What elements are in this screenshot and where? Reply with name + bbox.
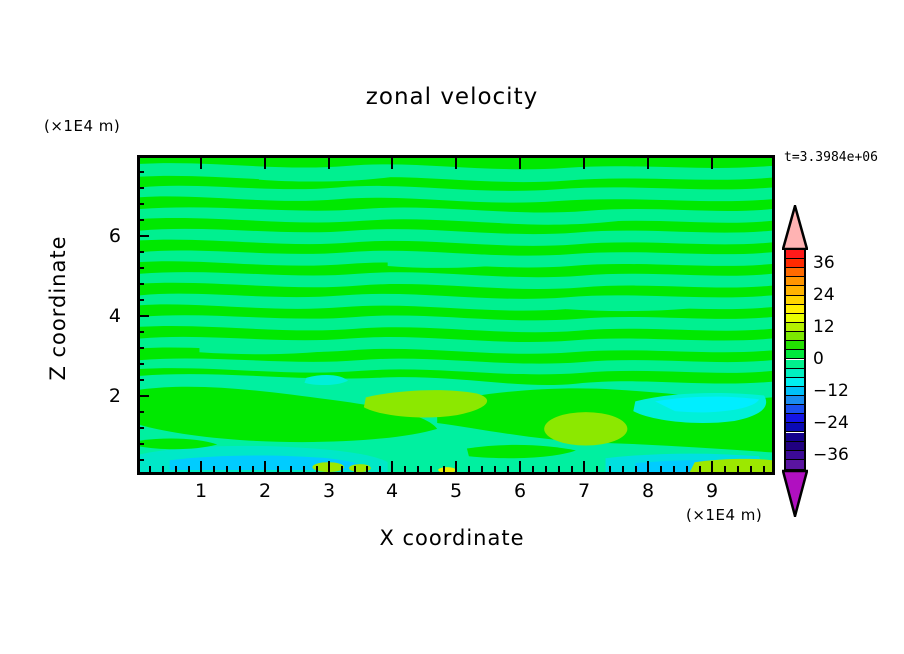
- x-tick-minor: [622, 466, 624, 472]
- colorbar-ticklabel: −12: [813, 381, 849, 401]
- y-tick-minor: [138, 219, 144, 221]
- y-ticklabel: 2: [95, 385, 121, 407]
- x-tick-major: [647, 461, 649, 472]
- y-tick-major: [138, 235, 149, 237]
- x-tick-minor: [686, 466, 688, 472]
- x-ticklabel: 1: [186, 480, 216, 502]
- x-tick-major-top: [328, 158, 330, 169]
- x-tick-major: [200, 461, 202, 472]
- x-tick-minor: [724, 466, 726, 472]
- x-ticklabel: 9: [697, 480, 727, 502]
- y-tick-minor: [138, 331, 144, 333]
- x-tick-major-top: [264, 158, 266, 169]
- page-title: zonal velocity: [0, 84, 904, 110]
- colorbar[interactable]: 36 24 12 0 −12 −24 −36: [779, 205, 811, 515]
- x-tick-minor: [468, 466, 470, 472]
- x-ticklabel: 7: [569, 480, 599, 502]
- x-tick-minor: [737, 466, 739, 472]
- x-tick-minor: [303, 466, 305, 472]
- colorbar-band: [786, 323, 804, 332]
- colorbar-band: [786, 460, 804, 469]
- colorbar-band: [786, 442, 804, 451]
- y-tick-minor: [138, 187, 144, 189]
- colorbar-band: [786, 259, 804, 268]
- colorbar-band: [786, 369, 804, 378]
- colorbar-ticklabel: −36: [813, 445, 849, 465]
- x-tick-minor: [673, 466, 675, 472]
- y-tick-minor: [138, 203, 144, 205]
- x-tick-major: [455, 461, 457, 472]
- x-ticklabel: 2: [250, 480, 280, 502]
- x-tick-minor: [226, 466, 228, 472]
- x-tick-minor: [571, 466, 573, 472]
- x-tick-minor: [341, 466, 343, 472]
- x-tick-minor: [417, 466, 419, 472]
- x-tick-minor: [175, 466, 177, 472]
- colorbar-band: [786, 451, 804, 460]
- x-tick-minor: [532, 466, 534, 472]
- x-tick-minor: [494, 466, 496, 472]
- x-tick-minor: [699, 466, 701, 472]
- x-tick-minor: [162, 466, 164, 472]
- x-tick-minor: [404, 466, 406, 472]
- colorbar-band: [786, 387, 804, 396]
- x-tick-major: [711, 461, 713, 472]
- colorbar-band: [786, 433, 804, 442]
- colorbar-band: [786, 360, 804, 369]
- x-tick-minor: [290, 466, 292, 472]
- x-tick-minor: [635, 466, 637, 472]
- colorbar-ticklabel: 24: [813, 285, 835, 305]
- x-ticklabel: 4: [377, 480, 407, 502]
- x-tick-major: [328, 461, 330, 472]
- figure-canvas: zonal velocity (×1E4 m) t=3.3984e+06 Z c…: [0, 0, 904, 654]
- y-tick-major: [138, 395, 149, 397]
- y-ticklabel: 6: [95, 225, 121, 247]
- colorbar-band: [786, 341, 804, 350]
- x-tick-minor: [750, 466, 752, 472]
- y-axis-title: Z coordinate: [46, 228, 70, 388]
- x-tick-minor: [660, 466, 662, 472]
- x-tick-minor: [443, 466, 445, 472]
- colorbar-band: [786, 286, 804, 295]
- y-tick-minor: [138, 251, 144, 253]
- x-tick-major: [519, 461, 521, 472]
- colorbar-band: [786, 405, 804, 414]
- y-tick-minor: [138, 411, 144, 413]
- colorbar-ticklabel: 36: [813, 253, 835, 273]
- x-tick-major: [583, 461, 585, 472]
- colorbar-band: [786, 250, 804, 259]
- colorbar-band: [786, 332, 804, 341]
- x-tick-minor: [252, 466, 254, 472]
- y-tick-minor: [138, 363, 144, 365]
- y-tick-minor: [138, 171, 144, 173]
- x-axis-title: X coordinate: [0, 526, 904, 550]
- y-tick-minor: [138, 459, 144, 461]
- x-axis-unit-label: (×1E4 m): [686, 506, 762, 524]
- x-ticklabel: 3: [314, 480, 344, 502]
- y-ticklabel: 4: [95, 305, 121, 327]
- y-tick-minor: [138, 267, 144, 269]
- x-ticklabel: 5: [441, 480, 471, 502]
- x-tick-minor: [188, 466, 190, 472]
- colorbar-ticklabel: 0: [813, 349, 824, 369]
- y-tick-major: [138, 315, 149, 317]
- x-tick-minor: [545, 466, 547, 472]
- y-tick-minor: [138, 379, 144, 381]
- y-axis-unit-label: (×1E4 m): [44, 117, 120, 135]
- y-tick-minor: [138, 443, 144, 445]
- colorbar-band: [786, 277, 804, 286]
- x-tick-minor: [763, 466, 765, 472]
- colorbar-band: [786, 378, 804, 387]
- contour-plot-area: [137, 155, 775, 475]
- x-tick-major-top: [519, 158, 521, 169]
- timestamp-annotation: t=3.3984e+06: [784, 150, 878, 165]
- x-tick-minor: [366, 466, 368, 472]
- colorbar-band: [786, 350, 804, 359]
- y-tick-minor: [138, 283, 144, 285]
- x-ticklabel: 6: [505, 480, 535, 502]
- x-ticklabel: 8: [633, 480, 663, 502]
- colorbar-ticklabel: 12: [813, 317, 835, 337]
- x-tick-major: [391, 461, 393, 472]
- x-tick-major-top: [711, 158, 713, 169]
- colorbar-band: [786, 296, 804, 305]
- x-tick-minor: [430, 466, 432, 472]
- x-tick-minor: [277, 466, 279, 472]
- x-tick-minor: [213, 466, 215, 472]
- colorbar-band: [786, 305, 804, 314]
- x-tick-minor: [481, 466, 483, 472]
- contour-field: [140, 158, 772, 472]
- x-tick-major-top: [583, 158, 585, 169]
- colorbar-band: [786, 268, 804, 277]
- colorbar-ticklabel: −24: [813, 413, 849, 433]
- colorbar-under-arrow: [782, 469, 808, 517]
- x-tick-major: [264, 461, 266, 472]
- x-tick-minor: [558, 466, 560, 472]
- x-tick-minor: [316, 466, 318, 472]
- colorbar-band: [786, 414, 804, 423]
- x-tick-minor: [507, 466, 509, 472]
- y-tick-minor: [138, 299, 144, 301]
- x-tick-major-top: [391, 158, 393, 169]
- colorbar-band: [786, 396, 804, 405]
- x-tick-minor: [379, 466, 381, 472]
- colorbar-bands: [784, 248, 806, 471]
- x-tick-major-top: [647, 158, 649, 169]
- x-tick-minor: [609, 466, 611, 472]
- x-tick-minor: [354, 466, 356, 472]
- x-tick-minor: [149, 466, 151, 472]
- colorbar-band: [786, 423, 804, 432]
- x-tick-minor: [596, 466, 598, 472]
- colorbar-over-arrow: [782, 205, 808, 250]
- x-tick-major-top: [200, 158, 202, 169]
- y-tick-minor: [138, 347, 144, 349]
- y-tick-minor: [138, 427, 144, 429]
- x-tick-minor: [239, 466, 241, 472]
- colorbar-band: [786, 314, 804, 323]
- x-tick-major-top: [455, 158, 457, 169]
